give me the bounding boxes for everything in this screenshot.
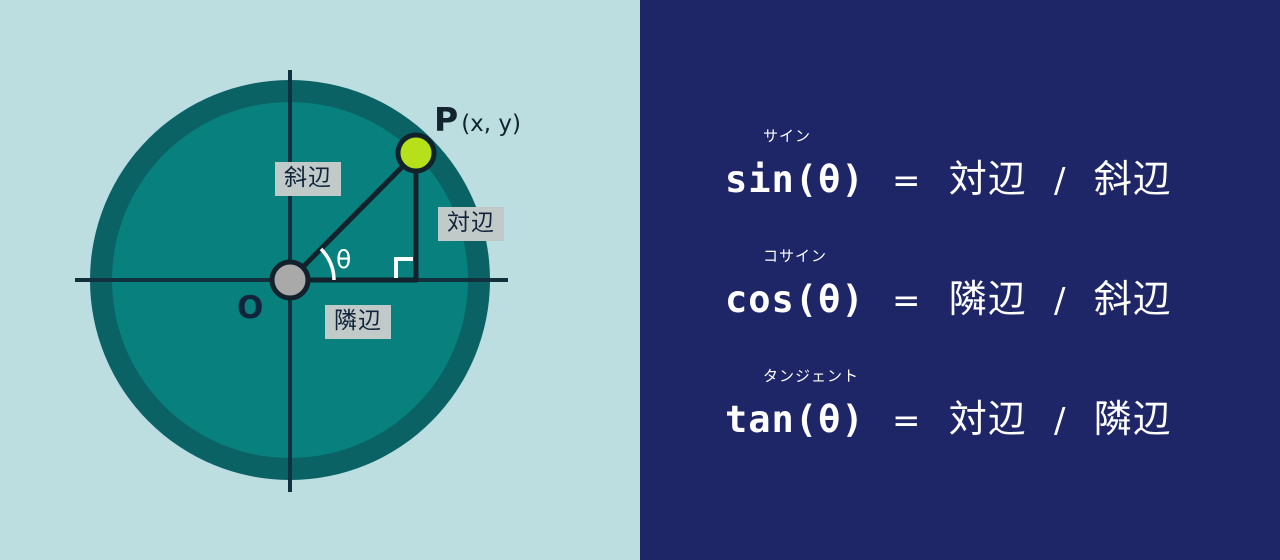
formula-tan-func: tan(θ) xyxy=(725,398,865,441)
formula-reading-sin: サイン xyxy=(763,125,1195,146)
formula-expression-tan: tan(θ) = 対辺 / 隣辺 xyxy=(725,388,1195,443)
formula-sin-denominator: 斜辺 xyxy=(1094,157,1172,201)
formula-tan-numerator: 対辺 xyxy=(949,397,1027,441)
formula-sin-divider: / xyxy=(1050,161,1070,201)
formula-cos-equals: = xyxy=(888,281,926,321)
formula-row-tan: タンジェント tan(θ) = 対辺 / 隣辺 xyxy=(725,365,1195,443)
formula-reading-cos: コサイン xyxy=(763,245,1195,266)
formula-expression-sin: sin(θ) = 対辺 / 斜辺 xyxy=(725,148,1195,203)
unit-circle-diagram xyxy=(0,0,640,560)
origin-label: O xyxy=(237,290,263,326)
label-hypotenuse: 斜辺 xyxy=(275,162,341,196)
formula-cos-numerator: 隣辺 xyxy=(949,277,1027,321)
diagram-panel: P(x, y) O θ 斜辺 対辺 隣辺 xyxy=(0,0,640,560)
formula-cos-divider: / xyxy=(1050,281,1070,321)
formula-tan-equals: = xyxy=(888,401,926,441)
angle-theta-label: θ xyxy=(336,245,351,274)
formula-reading-tan: タンジェント xyxy=(763,365,1195,386)
formula-tan-divider: / xyxy=(1050,401,1070,441)
origin-point xyxy=(272,262,308,298)
point-p-marker xyxy=(398,135,434,171)
formula-sin-numerator: 対辺 xyxy=(949,157,1027,201)
label-adjacent: 隣辺 xyxy=(325,305,391,339)
label-opposite: 対辺 xyxy=(438,207,504,241)
formula-tan-denominator: 隣辺 xyxy=(1094,397,1172,441)
formula-row-cos: コサイン cos(θ) = 隣辺 / 斜辺 xyxy=(725,245,1195,323)
point-p-label: P(x, y) xyxy=(434,100,521,139)
formula-row-sin: サイン sin(θ) = 対辺 / 斜辺 xyxy=(725,125,1195,203)
formula-list: サイン sin(θ) = 対辺 / 斜辺 コサイン cos(θ) = 隣辺 / … xyxy=(640,0,1280,560)
point-p-coordinates: (x, y) xyxy=(461,111,521,137)
infographic-canvas: P(x, y) O θ 斜辺 対辺 隣辺 サイン sin(θ) = 対辺 / 斜… xyxy=(0,0,1280,560)
formula-cos-denominator: 斜辺 xyxy=(1094,277,1172,321)
formula-expression-cos: cos(θ) = 隣辺 / 斜辺 xyxy=(725,268,1195,323)
point-p-letter: P xyxy=(434,100,458,139)
formula-panel: サイン sin(θ) = 対辺 / 斜辺 コサイン cos(θ) = 隣辺 / … xyxy=(640,0,1280,560)
formula-cos-func: cos(θ) xyxy=(725,278,865,321)
formula-sin-equals: = xyxy=(888,161,926,201)
formula-sin-func: sin(θ) xyxy=(725,158,865,201)
